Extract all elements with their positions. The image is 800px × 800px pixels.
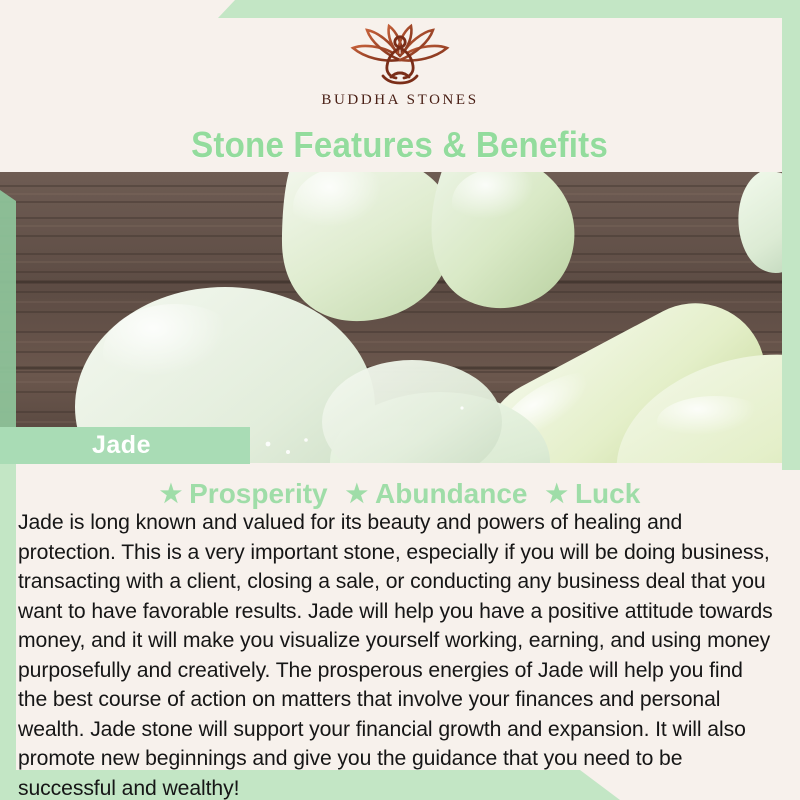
lotus-meditation-icon — [337, 20, 463, 86]
star-icon: ★ — [546, 482, 568, 507]
stone-description: Jade is long known and valued for its be… — [18, 508, 776, 800]
benefits-list: ★ Prosperity ★ Abundance ★ Luck — [0, 478, 800, 510]
stone-photo — [0, 172, 800, 463]
benefit-item-prosperity: ★ Prosperity — [160, 478, 328, 510]
benefit-label: Abundance — [375, 478, 527, 510]
decor-left-photo-bar — [0, 190, 16, 463]
star-icon: ★ — [160, 482, 182, 507]
benefit-label: Prosperity — [189, 478, 328, 510]
stone-photo-image — [0, 172, 800, 463]
benefit-item-abundance: ★ Abundance — [346, 478, 528, 510]
page-title-text: Stone Features & Benefits — [192, 124, 609, 166]
stone-name-label: Jade — [92, 431, 151, 460]
stone-info-card: BUDDHA STONES Stone Features & Benefits — [0, 0, 800, 800]
page-title: Stone Features & Benefits — [0, 124, 800, 166]
brand-logo: BUDDHA STONES — [321, 20, 478, 109]
stone-name-banner: Jade — [0, 427, 250, 464]
star-icon: ★ — [346, 482, 368, 507]
brand-name: BUDDHA STONES — [321, 92, 478, 109]
benefit-label: Luck — [575, 478, 640, 510]
benefit-item-luck: ★ Luck — [546, 478, 641, 510]
